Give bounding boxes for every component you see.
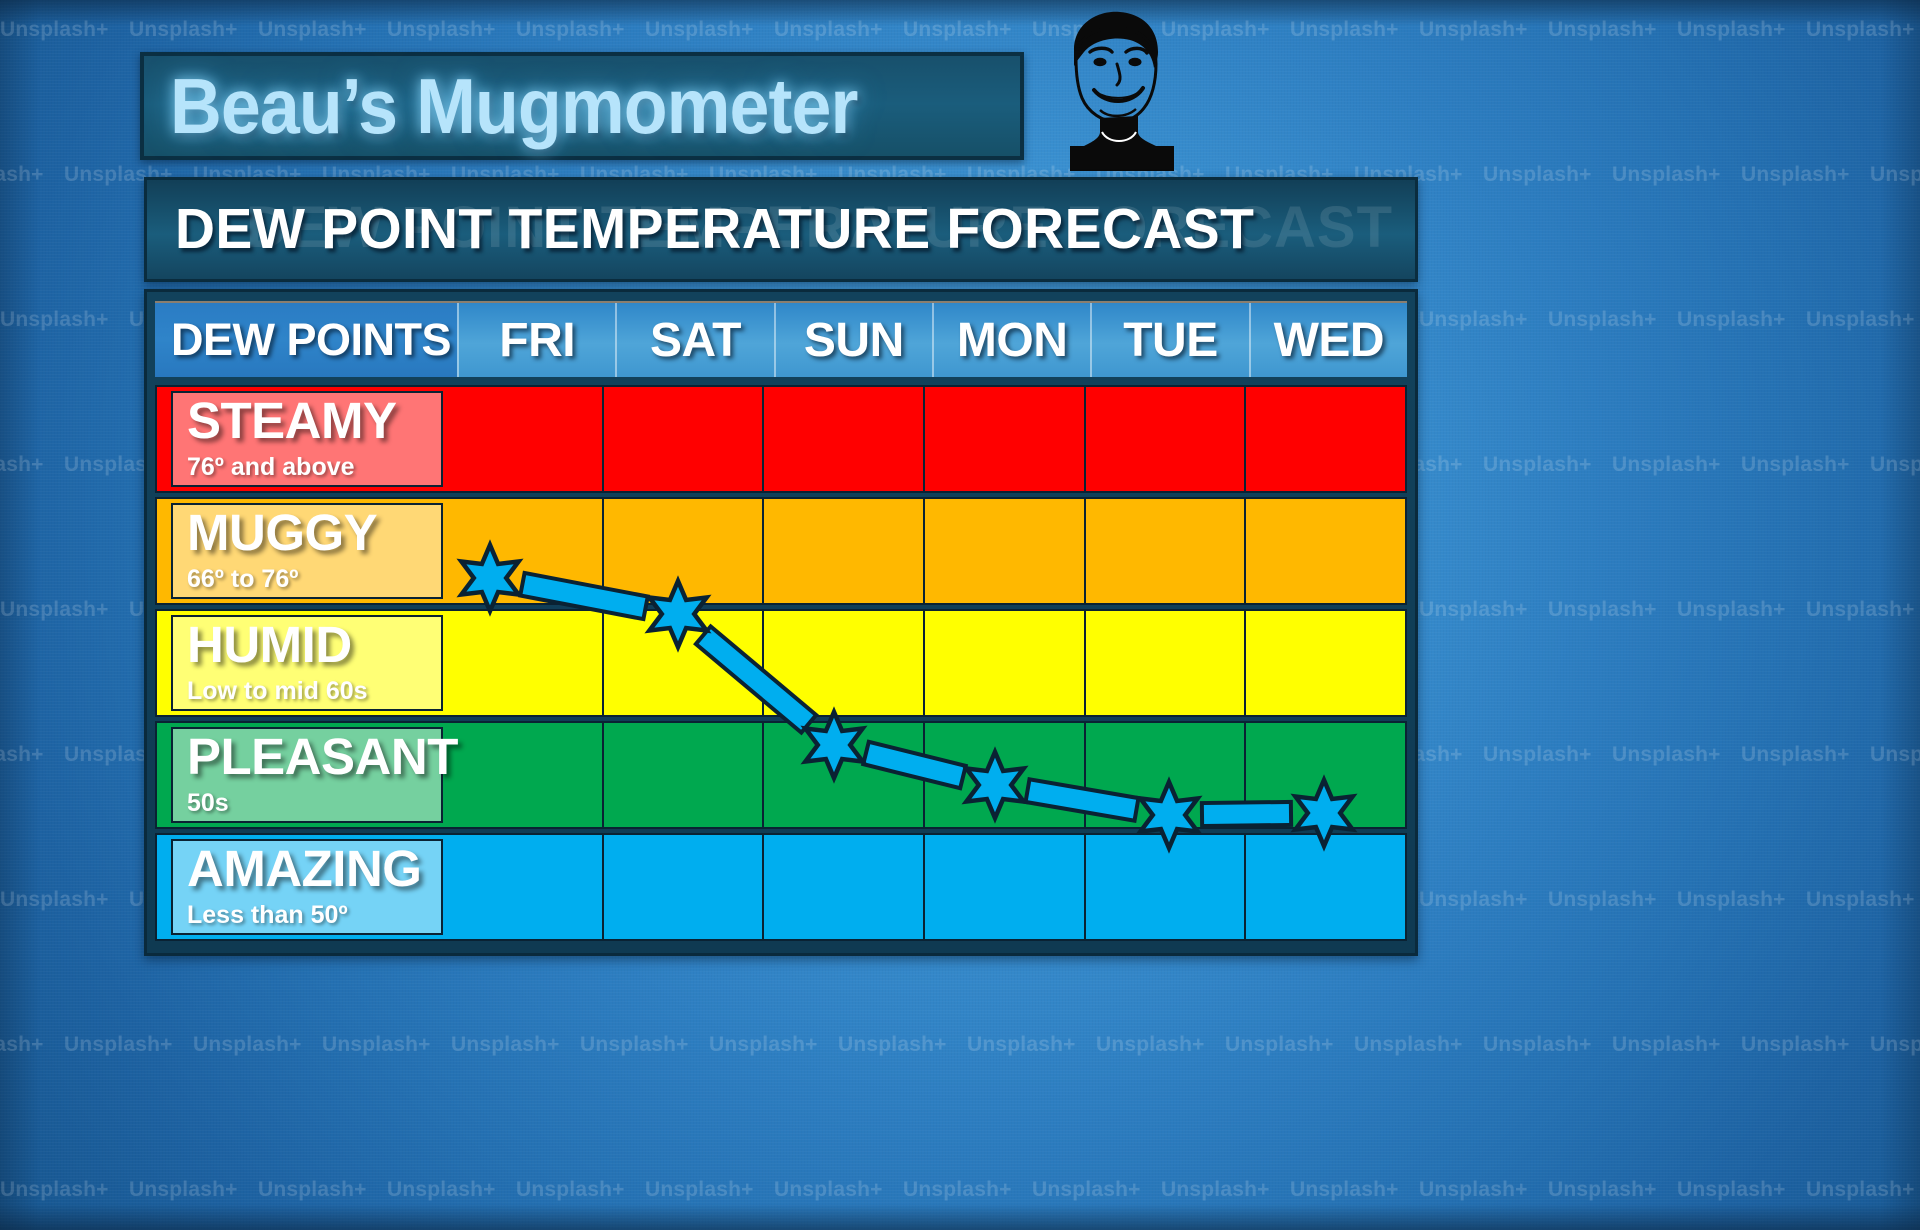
watermark-text: Unsplash+ [0, 1178, 109, 1202]
category-label-muggy: MUGGY 66º to 76º [157, 499, 443, 603]
watermark-text: Unsplash+ [0, 888, 109, 912]
column-header-fri: FRI [457, 303, 615, 377]
subtitle-text: DEW POINT TEMPERATURE FORECAST [175, 201, 1254, 258]
watermark-text: Unsplash+ [1806, 1178, 1915, 1202]
watermark-text: Unsplash+ [1612, 453, 1721, 477]
watermark-text: Unsplash+ [645, 18, 754, 42]
watermark-text: Unsplash+ [0, 163, 44, 187]
watermark-text: Unsplash+ [258, 18, 367, 42]
watermark-text: Unsplash+ [0, 308, 109, 332]
watermark-text: Unsplash+ [1290, 1178, 1399, 1202]
cell-steamy-mon [923, 387, 1084, 491]
category-name-steamy: STEAMY [187, 396, 441, 446]
watermark-text: Unsplash+ [1870, 163, 1920, 187]
cell-pleasant-mon [923, 723, 1084, 827]
category-name-pleasant: PLEASANT [187, 732, 441, 782]
watermark-text: Unsplash+ [0, 598, 109, 622]
watermark-text: Unsplash+ [774, 18, 883, 42]
cell-steamy-fri [443, 387, 602, 491]
cell-muggy-tue [1084, 499, 1245, 603]
watermark-text: Unsplash+ [129, 18, 238, 42]
watermark-text: Unsplash+ [1870, 743, 1920, 767]
watermark-text: Unsplash+ [1741, 453, 1850, 477]
table-row-steamy: STEAMY 76º and above [155, 385, 1407, 493]
cell-pleasant-wed [1244, 723, 1405, 827]
category-label-steamy: STEAMY 76º and above [157, 387, 443, 491]
watermark-text: Unsplash+ [967, 1033, 1076, 1057]
watermark-text: Unsplash+ [387, 1178, 496, 1202]
watermark-text: Unsplash+ [1806, 888, 1915, 912]
watermark-text: Unsplash+ [1225, 1033, 1334, 1057]
watermark-text: Unsplash+ [1677, 888, 1786, 912]
cell-amazing-sun [762, 835, 923, 939]
watermark-text: Unsplash+ [451, 1033, 560, 1057]
watermark-text: Unsplash+ [1548, 598, 1657, 622]
cell-muggy-fri [443, 499, 602, 603]
cell-muggy-sun [762, 499, 923, 603]
watermark-text: Unsplash+ [1806, 18, 1915, 42]
watermark-text: Unsplash+ [1741, 1033, 1850, 1057]
watermark-text: Unsplash+ [1548, 1178, 1657, 1202]
watermark-text: Unsplash+ [1548, 308, 1657, 332]
cell-pleasant-sat [602, 723, 763, 827]
category-label-amazing: AMAZING Less than 50º [157, 835, 443, 939]
column-header-sat: SAT [615, 303, 773, 377]
watermark-text: Unsplash+ [387, 18, 496, 42]
watermark-text: Unsplash+ [1741, 743, 1850, 767]
category-desc-muggy: 66º to 76º [187, 566, 441, 594]
watermark-text: Unsplash+ [1419, 308, 1528, 332]
watermark-text: Unsplash+ [64, 1033, 173, 1057]
table-corner-label: DEW POINTS [155, 303, 457, 377]
watermark-text: Unsplash+ [1677, 598, 1786, 622]
watermark-text: Unsplash+ [193, 1033, 302, 1057]
watermark-text: Unsplash+ [0, 1033, 44, 1057]
column-header-sun: SUN [774, 303, 932, 377]
cell-steamy-tue [1084, 387, 1245, 491]
watermark-text: Unsplash+ [129, 1178, 238, 1202]
category-label-pleasant: PLEASANT 50s [157, 723, 443, 827]
watermark-text: Unsplash+ [1548, 18, 1657, 42]
watermark-text: Unsplash+ [1419, 598, 1528, 622]
cell-muggy-wed [1244, 499, 1405, 603]
cell-amazing-mon [923, 835, 1084, 939]
watermark-text: Unsplash+ [1677, 1178, 1786, 1202]
watermark-text: Unsplash+ [1870, 453, 1920, 477]
cell-humid-sat [602, 611, 763, 715]
category-desc-amazing: Less than 50º [187, 902, 441, 930]
watermark-text: Unsplash+ [1096, 1033, 1205, 1057]
watermark-text: Unsplash+ [645, 1178, 754, 1202]
category-desc-pleasant: 50s [187, 790, 441, 818]
watermark-text: Unsplash+ [1612, 743, 1721, 767]
watermark-text: Unsplash+ [516, 18, 625, 42]
watermark-text: Unsplash+ [1741, 163, 1850, 187]
subtitle-bar: DEW POINT TEMPERATURE FORECAST DEW POINT… [144, 177, 1418, 282]
watermark-text: Unsplash+ [1612, 1033, 1721, 1057]
cell-pleasant-fri [443, 723, 602, 827]
watermark-text: Unsplash+ [322, 1033, 431, 1057]
watermark-text: Unsplash+ [0, 453, 44, 477]
cell-steamy-wed [1244, 387, 1405, 491]
watermark-text: Unsplash+ [1483, 743, 1592, 767]
column-header-mon: MON [932, 303, 1090, 377]
watermark-text: Unsplash+ [838, 1033, 947, 1057]
anchor-headshot [1040, 6, 1185, 171]
watermark-text: Unsplash+ [1161, 1178, 1270, 1202]
cell-amazing-fri [443, 835, 602, 939]
watermark-text: Unsplash+ [1419, 888, 1528, 912]
category-desc-humid: Low to mid 60s [187, 678, 441, 706]
watermark-text: Unsplash+ [1806, 598, 1915, 622]
dew-point-table: DEW POINTS FRI SAT SUN MON TUE WED STEAM… [144, 289, 1418, 956]
watermark-text: Unsplash+ [774, 1178, 883, 1202]
watermark-text: Unsplash+ [1483, 453, 1592, 477]
cell-muggy-sat [602, 499, 763, 603]
column-header-tue: TUE [1090, 303, 1248, 377]
cell-amazing-sat [602, 835, 763, 939]
watermark-text: Unsplash+ [903, 18, 1012, 42]
watermark-text: Unsplash+ [1548, 888, 1657, 912]
cell-pleasant-tue [1084, 723, 1245, 827]
category-name-amazing: AMAZING [187, 844, 441, 894]
cell-humid-tue [1084, 611, 1245, 715]
cell-humid-sun [762, 611, 923, 715]
watermark-text: Unsplash+ [1419, 1178, 1528, 1202]
watermark-text: Unsplash+ [903, 1178, 1012, 1202]
cell-steamy-sun [762, 387, 923, 491]
cell-steamy-sat [602, 387, 763, 491]
cell-humid-wed [1244, 611, 1405, 715]
watermark-text: Unsplash+ [0, 18, 109, 42]
category-name-muggy: MUGGY [187, 508, 441, 558]
table-row-pleasant: PLEASANT 50s [155, 721, 1407, 829]
watermark-text: Unsplash+ [709, 1033, 818, 1057]
watermark-text: Unsplash+ [580, 1033, 689, 1057]
cell-pleasant-sun [762, 723, 923, 827]
cell-amazing-tue [1084, 835, 1245, 939]
watermark-text: Unsplash+ [1032, 1178, 1141, 1202]
watermark-text: Unsplash+ [1290, 18, 1399, 42]
table-row-humid: HUMID Low to mid 60s [155, 609, 1407, 717]
table-row-muggy: MUGGY 66º to 76º [155, 497, 1407, 605]
watermark-text: Unsplash+ [1354, 1033, 1463, 1057]
table-row-amazing: AMAZING Less than 50º [155, 833, 1407, 941]
category-name-humid: HUMID [187, 620, 441, 670]
column-header-wed: WED [1249, 303, 1407, 377]
watermark-text: Unsplash+ [1483, 1033, 1592, 1057]
watermark-text: Unsplash+ [1677, 308, 1786, 332]
watermark-text: Unsplash+ [258, 1178, 367, 1202]
cell-muggy-mon [923, 499, 1084, 603]
watermark-text: Unsplash+ [1870, 1033, 1920, 1057]
cell-humid-mon [923, 611, 1084, 715]
title-bar: Beau’s Mugmometer [140, 52, 1024, 160]
cell-amazing-wed [1244, 835, 1405, 939]
watermark-text: Unsplash+ [1612, 163, 1721, 187]
watermark-text: Unsplash+ [1806, 308, 1915, 332]
cell-humid-fri [443, 611, 602, 715]
category-label-humid: HUMID Low to mid 60s [157, 611, 443, 715]
watermark-text: Unsplash+ [0, 743, 44, 767]
watermark-text: Unsplash+ [1483, 163, 1592, 187]
watermark-text: Unsplash+ [516, 1178, 625, 1202]
table-header-row: DEW POINTS FRI SAT SUN MON TUE WED [155, 301, 1407, 377]
category-desc-steamy: 76º and above [187, 454, 441, 482]
page-title: Beau’s Mugmometer [170, 67, 857, 145]
watermark-text: Unsplash+ [1677, 18, 1786, 42]
watermark-text: Unsplash+ [1419, 18, 1528, 42]
